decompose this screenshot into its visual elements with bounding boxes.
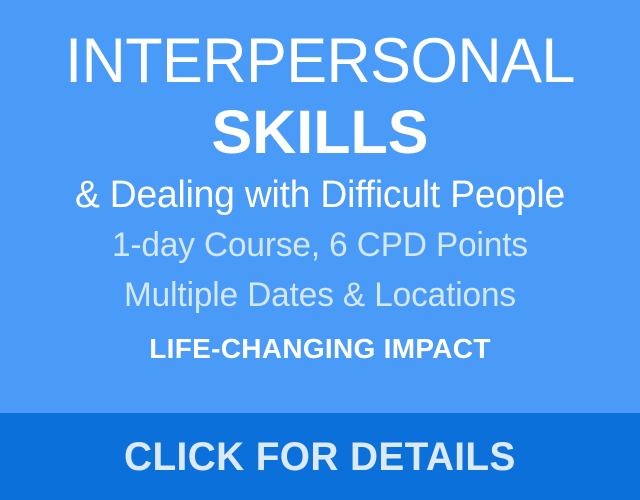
impact-tagline: LIFE-CHANGING IMPACT xyxy=(0,329,640,369)
course-duration-detail: 1-day Course, 6 CPD Points xyxy=(6,220,633,270)
banner-content-panel: INTERPERSONAL SKILLS & Dealing with Diff… xyxy=(0,0,640,413)
click-for-details-button[interactable]: CLICK FOR DETAILS xyxy=(0,413,640,500)
headline-line-1: INTERPERSONAL xyxy=(10,26,631,96)
advertisement-banner[interactable]: INTERPERSONAL SKILLS & Dealing with Diff… xyxy=(0,0,640,500)
banner-subheading: & Dealing with Difficult People xyxy=(6,170,633,220)
dates-locations-detail: Multiple Dates & Locations xyxy=(6,270,633,320)
headline-line-2: SKILLS xyxy=(0,96,640,168)
cta-label: CLICK FOR DETAILS xyxy=(124,435,516,479)
